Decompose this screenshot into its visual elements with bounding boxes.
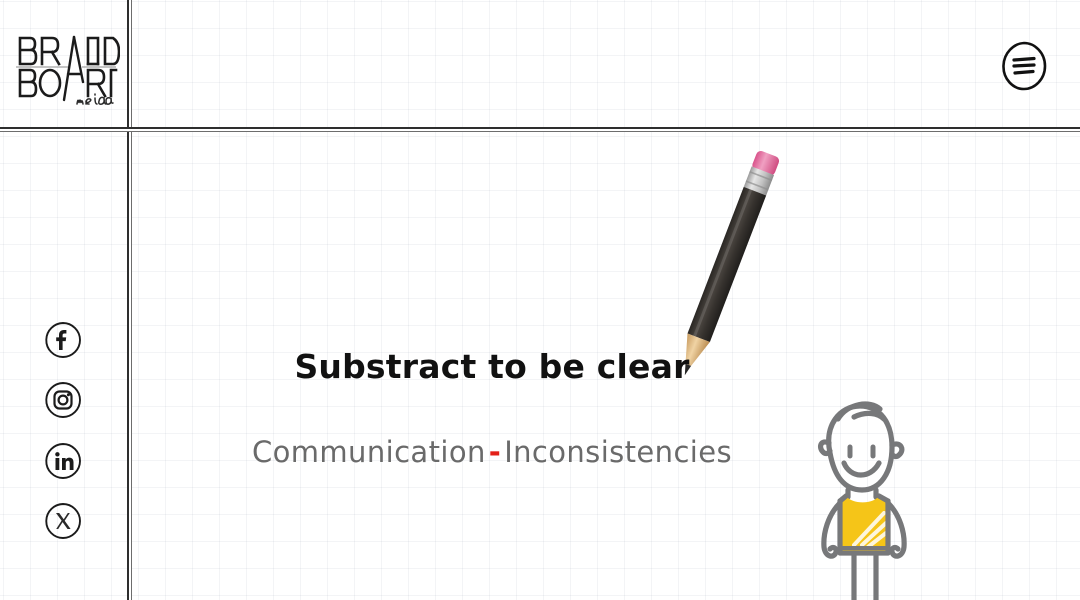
- facebook-icon: [44, 321, 82, 359]
- vertical-divider-rule: [127, 0, 132, 600]
- doodle-character-illustration: [792, 395, 932, 600]
- subline-minus-operator: -: [486, 435, 504, 469]
- instagram-icon: [44, 381, 82, 419]
- hamburger-circle-icon: [1000, 40, 1048, 92]
- site-header: [0, 0, 1080, 127]
- social-link-instagram[interactable]: [44, 381, 82, 419]
- horizontal-header-rule: [0, 127, 1080, 132]
- social-link-linkedin[interactable]: [44, 442, 82, 480]
- hamburger-menu-button[interactable]: [1000, 40, 1048, 92]
- subline-left-term: Communication: [252, 435, 486, 469]
- linkedin-icon: [44, 442, 82, 480]
- social-link-facebook[interactable]: [44, 321, 82, 359]
- doodle-character-svg: [792, 395, 932, 600]
- brand-logo[interactable]: [12, 24, 120, 110]
- brand-logo-svg: [12, 24, 120, 110]
- main-canvas: Substract to be clear Communication-Inco…: [132, 132, 1080, 600]
- subline-right-term: Inconsistencies: [504, 435, 732, 469]
- page-headline: Substract to be clear: [132, 347, 852, 386]
- page-root: Substract to be clear Communication-Inco…: [0, 0, 1080, 600]
- x-twitter-icon: [44, 502, 82, 540]
- social-sidebar: [0, 127, 127, 600]
- page-subline: Communication-Inconsistencies: [132, 435, 852, 469]
- social-link-x[interactable]: [44, 502, 82, 540]
